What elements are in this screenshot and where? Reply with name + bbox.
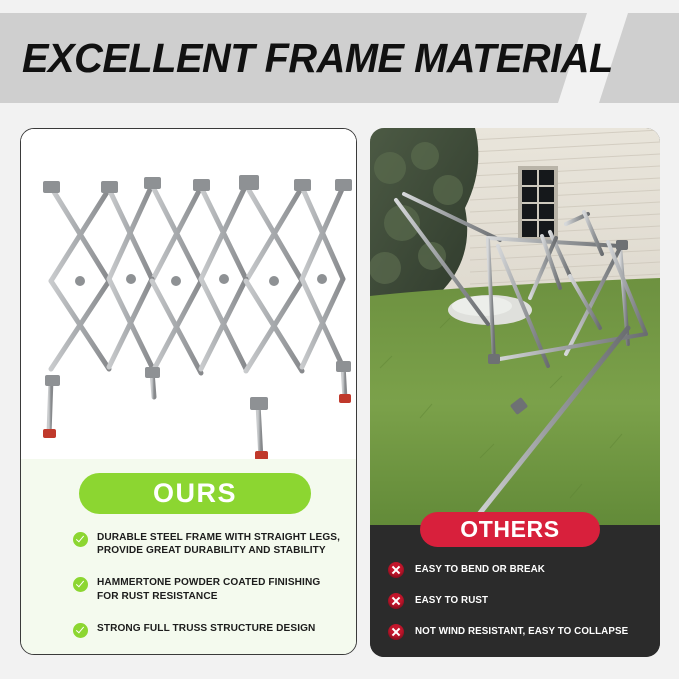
check-icon (73, 623, 88, 638)
ours-feature-text: DURABLE STEEL FRAME WITH STRAIGHT LEGS, … (97, 531, 340, 557)
x-icon (388, 562, 404, 578)
list-item: STRONG FULL TRUSS STRUCTURE DESIGN (73, 622, 345, 638)
list-item: DURABLE STEEL FRAME WITH STRAIGHT LEGS, … (73, 531, 345, 557)
others-badge: OTHERS (420, 512, 600, 547)
check-icon (73, 532, 88, 547)
others-badge-label: OTHERS (460, 516, 559, 543)
ours-feature-text: STRONG FULL TRUSS STRUCTURE DESIGN (97, 622, 315, 635)
canopy-frame-illustration (21, 129, 356, 459)
check-icon (73, 577, 88, 592)
list-item: HAMMERTONE POWDER COATED FINISHING FOR R… (73, 576, 345, 602)
others-feature-text: EASY TO RUST (415, 595, 488, 607)
ours-panel: OURS DURABLE STEEL FRAME WITH STRAIGHT L… (20, 128, 357, 655)
ours-feature-text: HAMMERTONE POWDER COATED FINISHING FOR R… (97, 576, 340, 602)
others-product-image (370, 128, 660, 528)
x-icon (388, 624, 404, 640)
broken-frame-photo (370, 128, 660, 528)
others-feature-list: EASY TO BEND OR BREAK EASY TO RUST NOT W… (388, 562, 650, 655)
list-item: EASY TO BEND OR BREAK (388, 562, 650, 578)
list-item: EASY TO RUST (388, 593, 650, 609)
infographic-root: EXCELLENT FRAME MATERIAL (0, 0, 679, 679)
header-banner: EXCELLENT FRAME MATERIAL (0, 13, 679, 103)
list-item: NOT WIND RESISTANT, EASY TO COLLAPSE (388, 624, 650, 640)
others-feature-text: EASY TO BEND OR BREAK (415, 564, 545, 576)
others-panel: OTHERS EASY TO BEND OR BREAK EASY TO RUS… (370, 128, 660, 657)
page-title: EXCELLENT FRAME MATERIAL (22, 35, 613, 82)
others-feature-text: NOT WIND RESISTANT, EASY TO COLLAPSE (415, 626, 628, 638)
x-icon (388, 593, 404, 609)
ours-badge: OURS (79, 473, 311, 514)
ours-feature-list: DURABLE STEEL FRAME WITH STRAIGHT LEGS, … (73, 531, 345, 655)
ours-badge-label: OURS (153, 478, 237, 509)
ours-product-image (21, 129, 356, 459)
